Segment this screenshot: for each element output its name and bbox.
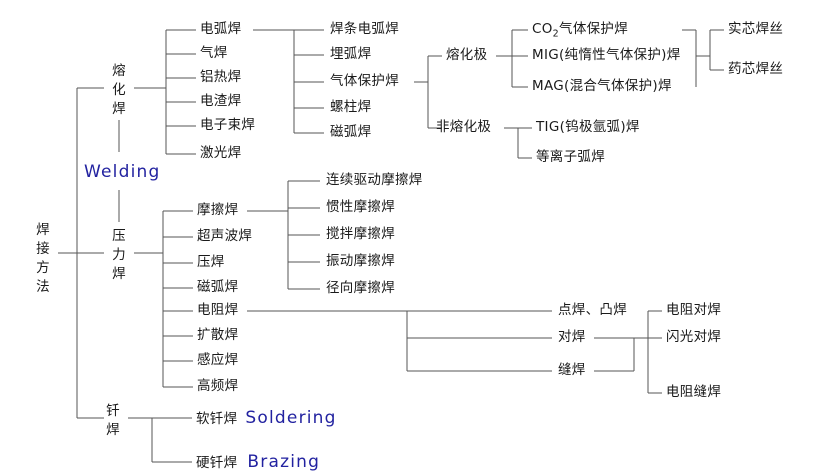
node-induction-welding: 感应焊 — [197, 353, 238, 367]
node-seam-welding: 缝焊 — [558, 363, 586, 377]
node-fusion-welding: 熔 化 焊 — [106, 62, 132, 119]
node-soldering: 软钎焊Soldering — [196, 410, 337, 428]
node-co2-shielded-welding: CO2气体保护焊 — [532, 22, 628, 40]
root-char-2: 接 — [30, 240, 56, 259]
pressure-char-3: 焊 — [106, 265, 132, 284]
node-continuous-drive-friction-welding: 连续驱动摩擦焊 — [326, 173, 423, 187]
node-high-frequency-welding: 高频焊 — [197, 379, 238, 393]
co2-suffix: 气体保护焊 — [559, 21, 628, 37]
node-gas-welding: 气焊 — [200, 46, 228, 60]
welding-classification-diagram: 焊 接 方 法 熔 化 焊 Welding 压 力 焊 钎 焊 电弧焊 气焊 铝… — [0, 0, 817, 474]
node-mag-welding: MAG(混合气体保护)焊 — [532, 79, 672, 93]
node-magnetic-arc-welding: 磁弧焊 — [330, 125, 371, 139]
node-arc-welding: 电弧焊 — [200, 22, 241, 36]
node-thermite-welding: 铝热焊 — [200, 70, 241, 84]
fusion-char-3: 焊 — [106, 100, 132, 119]
node-laser-welding: 激光焊 — [200, 146, 241, 160]
node-mig-welding: MIG(纯惰性气体保护)焊 — [532, 48, 681, 62]
root-char-1: 焊 — [30, 221, 56, 240]
node-radial-friction-welding: 径向摩擦焊 — [326, 281, 395, 295]
brazing-char-1: 钎 — [100, 402, 126, 421]
brazing-char-2: 焊 — [100, 421, 126, 440]
node-non-consumable-electrode: 非熔化极 — [436, 120, 491, 134]
node-spot-projection-welding: 点焊、凸焊 — [558, 303, 627, 317]
node-brazing: 硬钎焊Brazing — [196, 454, 320, 472]
node-inertia-friction-welding: 惯性摩擦焊 — [326, 200, 395, 214]
pressure-char-2: 力 — [106, 246, 132, 265]
node-solid-wire: 实芯焊丝 — [728, 22, 783, 36]
node-gas-shielded-arc-welding: 气体保护焊 — [330, 74, 399, 88]
node-tig-welding: TIG(钨极氩弧)焊 — [536, 120, 640, 134]
node-resistance-seam-welding: 电阻缝焊 — [666, 385, 721, 399]
node-saw: 埋弧焊 — [330, 47, 371, 61]
node-electroslag-welding: 电渣焊 — [200, 94, 241, 108]
node-magnetic-arc-weld-2: 磁弧焊 — [197, 280, 238, 294]
node-plasma-arc-welding: 等离子弧焊 — [536, 150, 605, 164]
node-stud-welding: 螺柱焊 — [330, 100, 371, 114]
brazing-label-cn: 硬钎焊 — [196, 455, 237, 471]
pressure-char-1: 压 — [106, 227, 132, 246]
label-welding-english: Welding — [84, 162, 160, 182]
node-brazing-soldering-group: 钎 焊 — [100, 402, 126, 440]
node-friction-welding: 摩擦焊 — [197, 203, 238, 217]
root-node-welding-methods: 焊 接 方 法 — [30, 221, 56, 298]
node-pressure-weld: 压焊 — [197, 255, 225, 269]
root-char-3: 方 — [30, 259, 56, 278]
node-butt-welding: 对焊 — [558, 330, 586, 344]
node-consumable-electrode: 熔化极 — [446, 48, 487, 62]
root-char-4: 法 — [30, 278, 56, 297]
node-electron-beam-welding: 电子束焊 — [200, 118, 255, 132]
node-smaw: 焊条电弧焊 — [330, 22, 399, 36]
co2-prefix: CO — [532, 21, 553, 37]
node-pressure-welding: 压 力 焊 — [106, 227, 132, 284]
soldering-label-en: Soldering — [245, 408, 336, 428]
node-resistance-butt-welding: 电阻对焊 — [666, 303, 721, 317]
soldering-label-cn: 软钎焊 — [196, 411, 237, 427]
fusion-char-2: 化 — [106, 81, 132, 100]
brazing-label-en: Brazing — [247, 452, 320, 472]
node-flash-butt-welding: 闪光对焊 — [666, 330, 721, 344]
fusion-char-1: 熔 — [106, 62, 132, 81]
node-vibration-friction-welding: 振动摩擦焊 — [326, 254, 395, 268]
node-diffusion-welding: 扩散焊 — [197, 328, 238, 342]
node-friction-stir-welding: 搅拌摩擦焊 — [326, 227, 395, 241]
node-flux-cored-wire: 药芯焊丝 — [728, 62, 783, 76]
node-resistance-welding: 电阻焊 — [197, 303, 238, 317]
node-ultrasonic-welding: 超声波焊 — [197, 229, 252, 243]
